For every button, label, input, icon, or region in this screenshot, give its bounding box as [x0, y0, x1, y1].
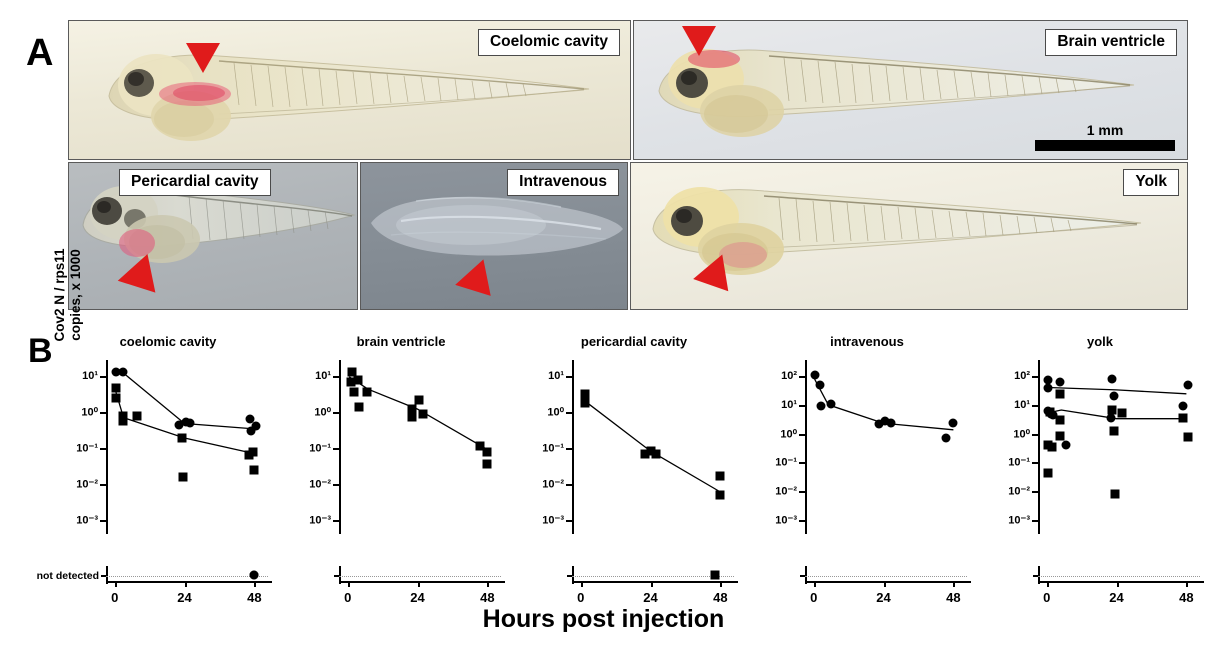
data-point-square	[652, 450, 661, 459]
chart-brain-ventricle: brain ventricle10¹10⁰10⁻¹10⁻²10⁻³02448	[293, 330, 509, 600]
data-point-square	[1055, 416, 1064, 425]
data-point-not-detected	[250, 571, 259, 580]
chart-title: intravenous	[759, 334, 975, 349]
data-point-circle	[251, 422, 260, 431]
y-tick-label: 10¹	[781, 399, 797, 411]
y-tick-label: 10¹	[1014, 399, 1030, 411]
data-point-circle	[1179, 401, 1188, 410]
data-point-square	[353, 375, 362, 384]
data-point-square	[250, 465, 259, 474]
data-point-circle	[1044, 384, 1053, 393]
chart-title: yolk	[992, 334, 1207, 349]
red-arrowhead-coelomic	[186, 43, 220, 73]
chart-intravenous: intravenous10²10¹10⁰10⁻¹10⁻²10⁻³02448	[759, 330, 975, 600]
photo-caption-brain-ventricle: Brain ventricle	[1045, 29, 1177, 56]
photo-pericardial-cavity: Pericardial cavity	[68, 162, 358, 310]
chart-pericardial-cavity: pericardial cavity10¹10⁰10⁻¹10⁻²10⁻³0244…	[526, 330, 742, 600]
photo-brain-ventricle: Brain ventricle 1 mm	[633, 20, 1188, 160]
trend-lines	[106, 360, 276, 595]
data-point-square	[581, 389, 590, 398]
y-tick-label: 10²	[781, 370, 797, 382]
scalebar-line	[1035, 140, 1175, 151]
data-point-square	[111, 384, 120, 393]
y-tick-label: 10⁻³	[542, 514, 564, 527]
data-point-circle	[817, 401, 826, 410]
data-point-not-detected	[710, 571, 719, 580]
data-point-circle	[1061, 441, 1070, 450]
y-tick-label: 10⁰	[314, 406, 331, 419]
data-point-square	[248, 447, 257, 456]
plot-area: 10²10¹10⁰10⁻¹10⁻²10⁻³02448	[1038, 360, 1198, 565]
data-point-square	[362, 388, 371, 397]
data-point-square	[1055, 431, 1064, 440]
plot-area: 10¹10⁰10⁻¹10⁻²10⁻³02448	[572, 360, 732, 565]
photo-intravenous: Intravenous	[360, 162, 628, 310]
photo-coelomic-cavity: Coelomic cavity	[68, 20, 631, 160]
y-tick-label: 10¹	[315, 370, 331, 382]
data-point-square	[355, 402, 364, 411]
chart-title: brain ventricle	[293, 334, 509, 349]
data-point-square	[1043, 468, 1052, 477]
photo-caption-yolk: Yolk	[1123, 169, 1179, 196]
y-tick-label: 10⁻³	[76, 514, 98, 527]
trend-lines	[805, 360, 975, 595]
data-point-circle	[949, 419, 958, 428]
photo-caption-coelomic-cavity: Coelomic cavity	[478, 29, 620, 56]
data-point-circle	[119, 367, 128, 376]
data-point-square	[1045, 408, 1054, 417]
data-point-square	[716, 490, 725, 499]
data-point-circle	[942, 434, 951, 443]
y-tick-label: 10⁰	[1013, 427, 1030, 440]
data-point-square	[716, 471, 725, 480]
y-tick-label: 10⁻²	[775, 485, 797, 498]
y-tick-label: 10⁻²	[76, 478, 98, 491]
data-point-square	[1183, 432, 1192, 441]
data-point-circle	[1109, 392, 1118, 401]
data-point-circle	[1183, 381, 1192, 390]
data-point-square	[132, 411, 141, 420]
data-point-circle	[886, 418, 895, 427]
chart-coelomic-cavity: coelomic cavity10¹10⁰10⁻¹10⁻²10⁻³not det…	[60, 330, 276, 600]
y-tick-label: 10⁰	[547, 406, 564, 419]
plot-area: 10¹10⁰10⁻¹10⁻²10⁻³not detected02448	[106, 360, 266, 565]
scalebar: 1 mm	[1035, 122, 1175, 151]
data-point-square	[483, 448, 492, 457]
data-point-circle	[186, 418, 195, 427]
data-point-circle	[815, 380, 824, 389]
data-point-square	[119, 416, 128, 425]
y-tick-label: 10⁻¹	[76, 442, 98, 455]
plot-area: 10²10¹10⁰10⁻¹10⁻²10⁻³02448	[805, 360, 965, 565]
y-tick-label: 10⁻³	[309, 514, 331, 527]
y-tick-label: 10²	[1014, 370, 1030, 382]
chart-title: pericardial cavity	[526, 334, 742, 349]
panel-b-label: B	[28, 332, 53, 371]
scalebar-label: 1 mm	[1035, 122, 1175, 138]
chart-row: coelomic cavity10¹10⁰10⁻¹10⁻²10⁻³not det…	[60, 330, 1200, 600]
y-tick-label: 10⁻¹	[1008, 456, 1030, 469]
y-tick-label: 10¹	[548, 370, 564, 382]
x-axis-title: Hours post injection	[0, 605, 1207, 634]
y-tick-label: 10⁻²	[1008, 485, 1030, 498]
photo-caption-intravenous: Intravenous	[507, 169, 619, 196]
y-tick-label: 10¹	[82, 370, 98, 382]
data-point-square	[483, 459, 492, 468]
data-point-square	[1111, 490, 1120, 499]
data-point-square	[1108, 405, 1117, 414]
y-tick-label: 10⁻¹	[775, 456, 797, 469]
plot-area: 10¹10⁰10⁻¹10⁻²10⁻³02448	[339, 360, 499, 565]
data-point-square	[1118, 408, 1127, 417]
data-point-square	[1055, 389, 1064, 398]
y-tick-label: 10⁻²	[542, 478, 564, 491]
data-point-square	[407, 413, 416, 422]
red-arrowhead-brain	[682, 26, 716, 56]
data-point-square	[415, 395, 424, 404]
panel-a-label: A	[26, 32, 53, 75]
not-detected-label: not detected	[37, 570, 99, 582]
data-point-square	[179, 472, 188, 481]
data-point-square	[1109, 427, 1118, 436]
chart-title: coelomic cavity	[60, 334, 276, 349]
y-tick-label: 10⁰	[780, 427, 797, 440]
data-point-square	[1179, 414, 1188, 423]
data-point-circle	[1055, 377, 1064, 386]
data-point-square	[581, 398, 590, 407]
data-point-circle	[1108, 375, 1117, 384]
y-tick-label: 10⁻³	[1008, 514, 1030, 527]
y-tick-label: 10⁻²	[309, 478, 331, 491]
data-point-square	[419, 409, 428, 418]
y-tick-label: 10⁰	[81, 406, 98, 419]
data-point-square	[349, 388, 358, 397]
y-tick-label: 10⁻¹	[309, 442, 331, 455]
y-tick-label: 10⁻¹	[542, 442, 564, 455]
data-point-circle	[827, 399, 836, 408]
micrograph-grid: Coelomic cavity	[68, 20, 1188, 310]
photo-yolk: Yolk	[630, 162, 1188, 310]
data-point-square	[177, 433, 186, 442]
data-point-circle	[1106, 414, 1115, 423]
data-point-circle	[810, 371, 819, 380]
data-point-square	[1047, 443, 1056, 452]
data-point-square	[111, 393, 120, 402]
photo-caption-pericardial-cavity: Pericardial cavity	[119, 169, 271, 196]
chart-yolk: yolk10²10¹10⁰10⁻¹10⁻²10⁻³02448	[992, 330, 1207, 600]
y-tick-label: 10⁻³	[775, 514, 797, 527]
